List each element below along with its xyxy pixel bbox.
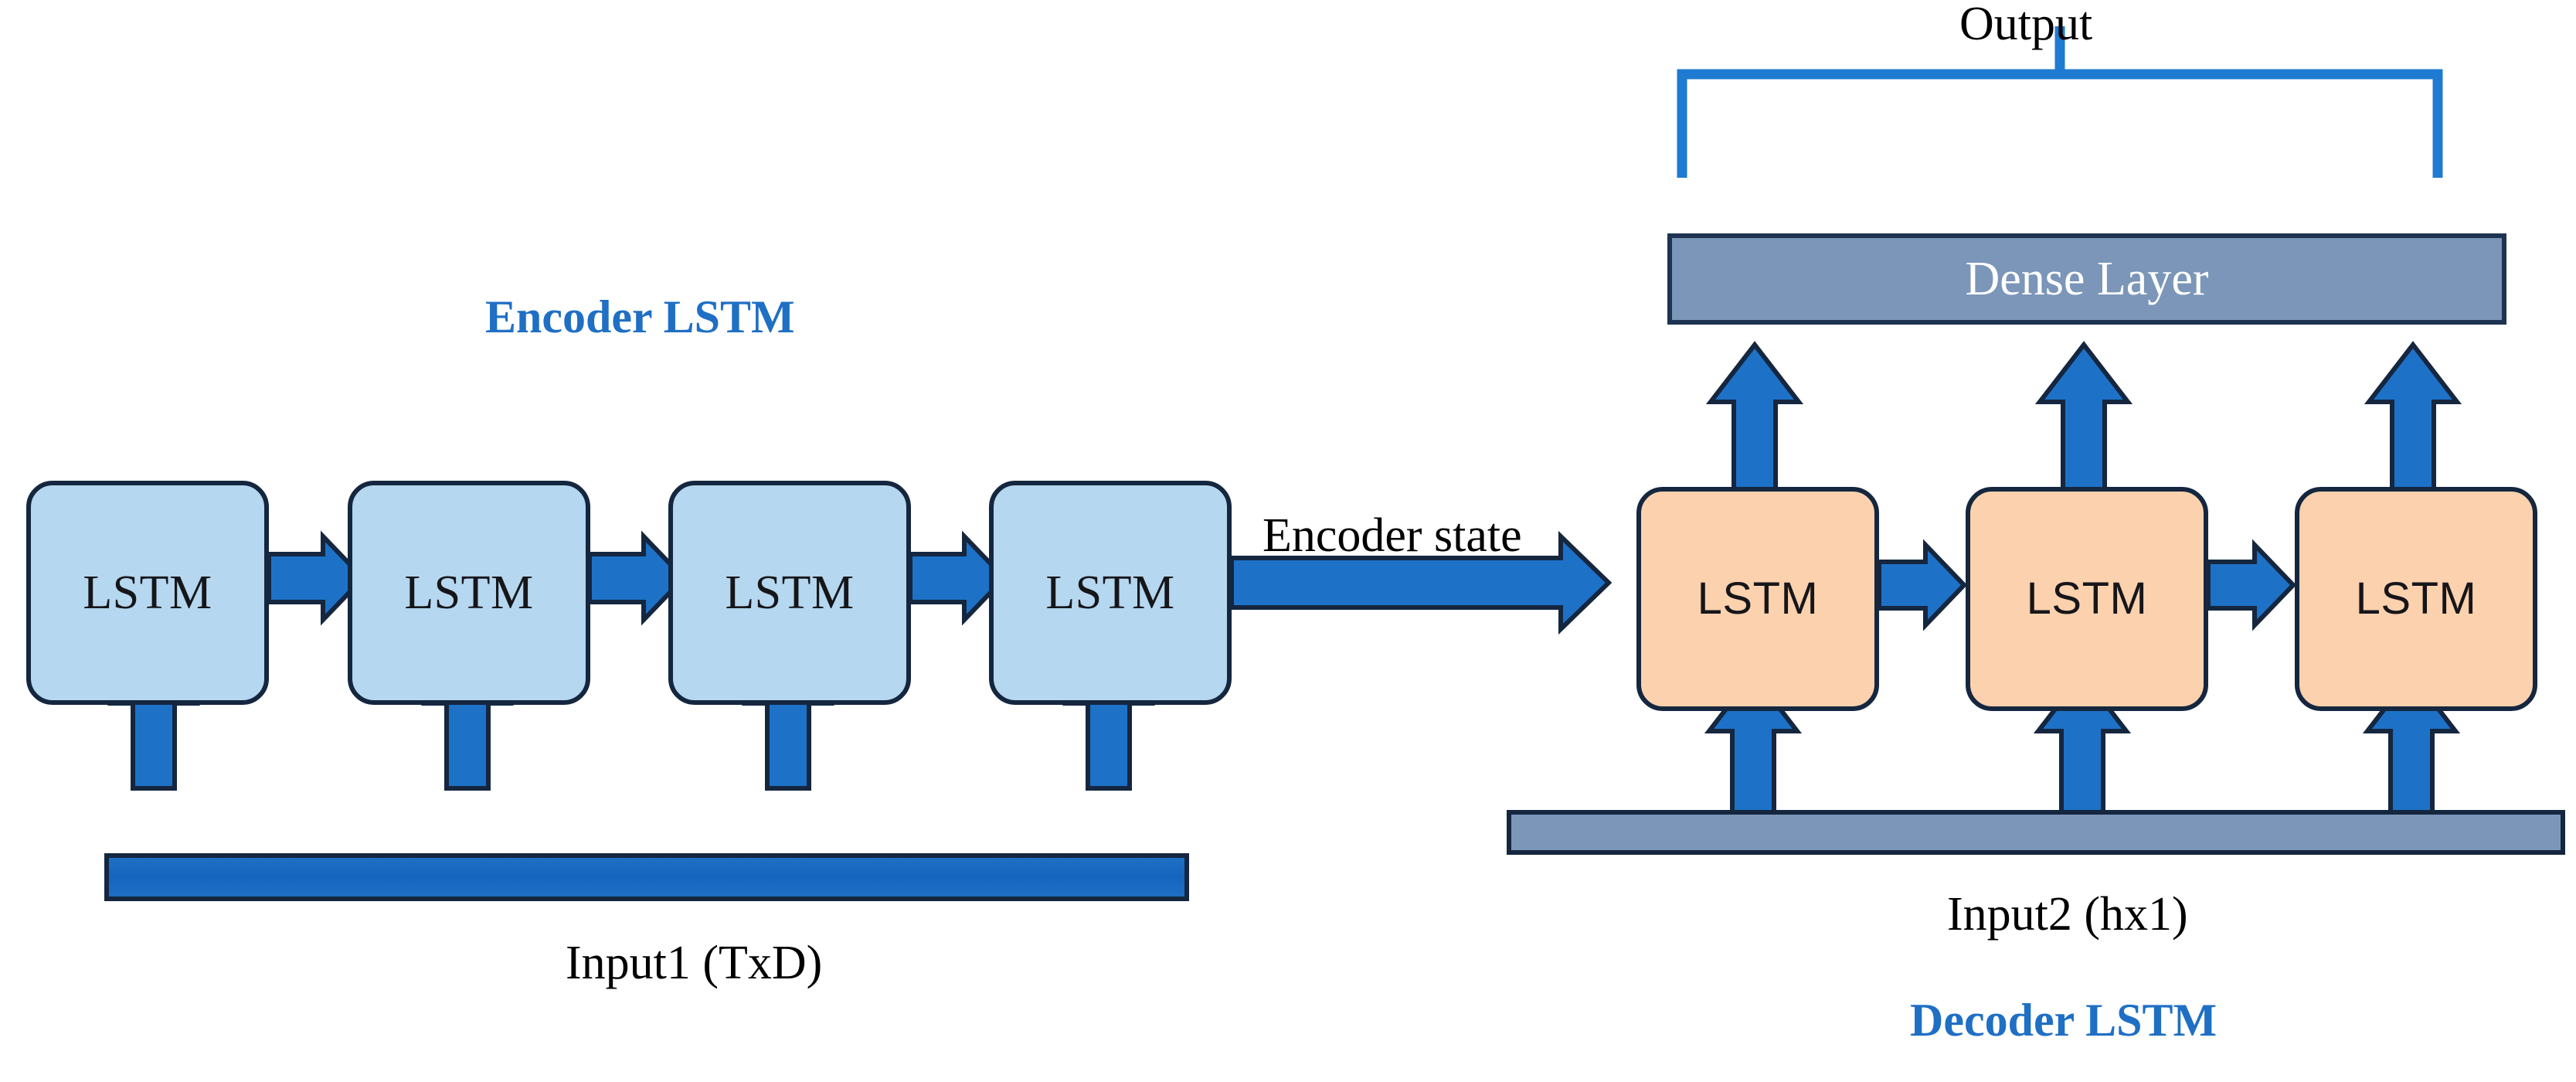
encoder-lstm-cell-1-label: LSTM (83, 569, 212, 617)
output-label: Output (1959, 0, 2092, 48)
diagram-canvas: Encoder LSTM LSTM LSTM LSTM LSTM Encoder… (0, 0, 2576, 1082)
dense-layer-block[interactable]: Dense Layer (1667, 233, 2506, 325)
decoder-output-arrow-2 (2040, 345, 2128, 490)
decoder-lstm-cell-1-label: LSTM (1698, 577, 1819, 621)
decoder-lstm-cell-3-label: LSTM (2356, 577, 2477, 621)
input1-label: Input1 (TxD) (566, 939, 822, 987)
encoder-lstm-cell-4-label: LSTM (1045, 569, 1174, 617)
encoder-lstm-cell-2[interactable]: LSTM (348, 481, 590, 705)
dense-layer-label: Dense Layer (1966, 255, 2209, 303)
input2-label: Input2 (hx1) (1947, 890, 2188, 938)
encoder-lstm-cell-3[interactable]: LSTM (668, 481, 911, 705)
input1-bar[interactable] (104, 853, 1189, 901)
decoder-output-arrow-1 (1711, 345, 1799, 490)
decoder-group-label: Decoder LSTM (1910, 997, 2217, 1043)
encoder-lstm-cell-2-label: LSTM (404, 569, 533, 617)
encoder-group-label: Encoder LSTM (485, 294, 795, 340)
decoder-arrow-1 (1879, 545, 1964, 625)
decoder-arrow-2 (2208, 545, 2293, 625)
encoder-state-label: Encoder state (1263, 512, 1522, 560)
decoder-output-arrow-3 (2369, 345, 2457, 490)
input2-bar[interactable] (1507, 810, 2565, 855)
encoder-lstm-cell-3-label: LSTM (725, 569, 854, 617)
decoder-lstm-cell-3[interactable]: LSTM (2295, 487, 2537, 711)
encoder-lstm-cell-1[interactable]: LSTM (26, 481, 269, 705)
decoder-lstm-cell-1[interactable]: LSTM (1636, 487, 1879, 711)
decoder-lstm-cell-2-label: LSTM (2027, 577, 2148, 621)
decoder-lstm-cell-2[interactable]: LSTM (1966, 487, 2208, 711)
decoder-output-arrows (1711, 345, 2457, 490)
encoder-lstm-cell-4[interactable]: LSTM (989, 481, 1232, 705)
